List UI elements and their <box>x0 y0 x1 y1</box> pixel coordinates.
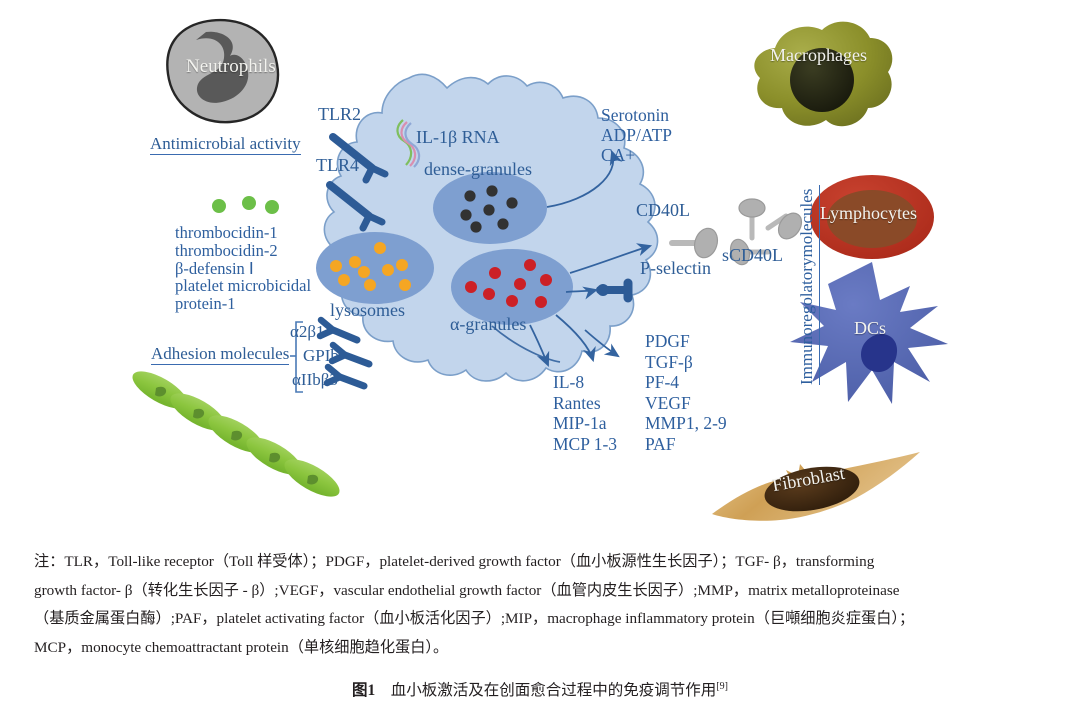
lysosomes-label: lysosomes <box>330 300 405 320</box>
dense-granules-label: dense-granules <box>424 159 532 179</box>
list-item: IL-8 <box>553 372 617 393</box>
neutrophil-label: Neutrophils <box>186 56 276 78</box>
gpib-label: GPIb <box>303 346 339 365</box>
scd40l-label: sCD40L <box>722 245 783 265</box>
list-item: VEGF <box>645 393 727 414</box>
il1b-rna-label: IL-1β RNA <box>416 127 500 147</box>
macrophage-cell <box>754 22 892 127</box>
list-item: PDGF <box>645 331 727 352</box>
macrophage-label: Macrophages <box>770 45 867 66</box>
aiibb3-label: αIIbβ3 <box>292 370 338 389</box>
cd40l-icon <box>672 225 721 260</box>
caption-line: growth factor- β（转化生长因子 - β）;VEGF，vascul… <box>0 577 1080 606</box>
list-item: Rantes <box>553 393 617 414</box>
caption-line: 注：TLR，Toll-like receptor（Toll 样受体）；PDGF，… <box>0 548 1080 577</box>
alpha-granules-label: α-granules <box>450 314 526 334</box>
immunoregulatory-molecules-label: Immunoregolatorymolecules <box>797 185 820 385</box>
list-item: PF-4 <box>645 372 727 393</box>
list-item: MMP1, 2-9 <box>645 413 727 434</box>
dense-granules-organelle <box>433 172 547 244</box>
list-item: β-defensin Ⅰ <box>175 260 311 278</box>
tlr2-label: TLR2 <box>318 104 361 124</box>
lymphocyte-label: Lymphocytes <box>820 203 917 224</box>
list-item: protein-1 <box>175 295 311 313</box>
adhesion-molecules-label: Adhesion molecules <box>151 344 289 365</box>
list-item: thrombocidin-2 <box>175 242 311 260</box>
list-item: platelet microbicidal <box>175 277 311 295</box>
chemokine-list: IL-8 Rantes MIP-1a MCP 1-3 <box>553 372 617 454</box>
lysosomes-organelle <box>316 232 434 304</box>
list-item: thrombocidin-1 <box>175 224 311 242</box>
a2b1-receptor-icon <box>320 320 357 340</box>
p-selectin-label: P-selectin <box>640 258 711 278</box>
dcs-label: DCs <box>854 318 886 339</box>
list-item: CA+ <box>601 145 672 165</box>
dense-granule-release-list: Serotonin ADP/ATP CA+ <box>601 105 672 165</box>
figure-title-ref: [9] <box>716 681 728 692</box>
list-item: MCP 1-3 <box>553 434 617 455</box>
caption-line: MCP，monocyte chemoattractant protein（单核细… <box>0 634 1080 663</box>
figure-canvas: Neutrophils Macrophages Lymphocytes DCs … <box>0 0 1080 545</box>
antimicrobial-peptide-dots <box>212 196 279 214</box>
list-item: ADP/ATP <box>601 125 672 145</box>
tlr4-label: TLR4 <box>316 155 359 175</box>
list-item: PAF <box>645 434 727 455</box>
diagram-artwork <box>0 0 1080 545</box>
figure-title-prefix: 图1 <box>352 682 375 699</box>
list-item: MIP-1a <box>553 413 617 434</box>
cd40l-label: CD40L <box>636 200 690 220</box>
figure-title: 图1 血小板激活及在创面愈合过程中的免疫调节作用[9] <box>0 678 1080 700</box>
figure-title-text: 血小板激活及在创面愈合过程中的免疫调节作用 <box>391 682 717 699</box>
antimicrobial-activity-label: Antimicrobial activity <box>150 134 301 155</box>
antimicrobial-list: thrombocidin-1 thrombocidin-2 β-defensin… <box>175 224 311 313</box>
list-item: Serotonin <box>601 105 672 125</box>
list-item: TGF-β <box>645 352 727 373</box>
growth-factor-list: PDGF TGF-β PF-4 VEGF MMP1, 2-9 PAF <box>645 331 727 454</box>
figure-caption: 注：TLR，Toll-like receptor（Toll 样受体）；PDGF，… <box>0 548 1080 662</box>
caption-line: （基质金属蛋白酶）;PAF，platelet activating factor… <box>0 605 1080 634</box>
a2b1-label: α2β1 <box>290 322 325 341</box>
